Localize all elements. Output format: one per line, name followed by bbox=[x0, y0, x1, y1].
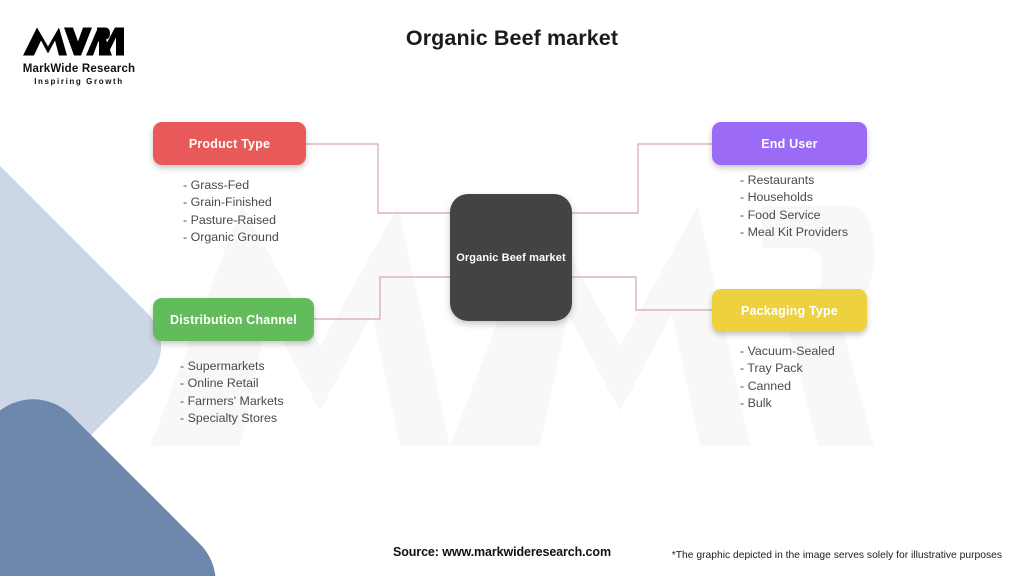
list-item: - Meal Kit Providers bbox=[740, 224, 848, 241]
branch-pill-distribution-channel[interactable]: Distribution Channel bbox=[153, 298, 314, 341]
branch-items-distribution-channel: - Supermarkets - Online Retail - Farmers… bbox=[180, 358, 284, 428]
center-node-label: Organic Beef market bbox=[456, 252, 566, 264]
list-item: - Tray Pack bbox=[740, 360, 835, 377]
list-item: - Pasture-Raised bbox=[183, 212, 279, 229]
branch-label-distribution-channel: Distribution Channel bbox=[170, 313, 297, 327]
disclaimer-text: *The graphic depicted in the image serve… bbox=[672, 550, 1002, 561]
connector-product-type bbox=[306, 144, 450, 213]
list-item: - Farmers' Markets bbox=[180, 393, 284, 410]
connector-distribution-channel bbox=[314, 277, 450, 319]
branch-label-packaging-type: Packaging Type bbox=[741, 304, 838, 318]
branch-items-end-user: - Restaurants - Households - Food Servic… bbox=[740, 172, 848, 242]
branch-items-packaging-type: - Vacuum-Sealed - Tray Pack - Canned - B… bbox=[740, 343, 835, 413]
list-item: - Specialty Stores bbox=[180, 410, 284, 427]
list-item: - Households bbox=[740, 189, 848, 206]
branch-label-product-type: Product Type bbox=[189, 137, 270, 151]
list-item: - Grass-Fed bbox=[183, 177, 279, 194]
list-item: - Bulk bbox=[740, 395, 835, 412]
infographic-canvas: MarkWide Research Inspiring Growth Organ… bbox=[0, 0, 1024, 576]
list-item: - Online Retail bbox=[180, 375, 284, 392]
list-item: - Restaurants bbox=[740, 172, 848, 189]
branch-label-end-user: End User bbox=[761, 137, 817, 151]
list-item: - Organic Ground bbox=[183, 229, 279, 246]
list-item: - Vacuum-Sealed bbox=[740, 343, 835, 360]
source-text: Source: www.markwideresearch.com bbox=[393, 545, 611, 559]
connector-packaging-type bbox=[572, 277, 712, 310]
list-item: - Canned bbox=[740, 378, 835, 395]
list-item: - Grain-Finished bbox=[183, 194, 279, 211]
branch-pill-product-type[interactable]: Product Type bbox=[153, 122, 306, 165]
branch-pill-packaging-type[interactable]: Packaging Type bbox=[712, 289, 867, 332]
center-node[interactable]: Organic Beef market bbox=[450, 194, 572, 321]
branch-items-product-type: - Grass-Fed - Grain-Finished - Pasture-R… bbox=[183, 177, 279, 247]
connector-end-user bbox=[572, 144, 712, 213]
list-item: - Supermarkets bbox=[180, 358, 284, 375]
branch-pill-end-user[interactable]: End User bbox=[712, 122, 867, 165]
list-item: - Food Service bbox=[740, 207, 848, 224]
